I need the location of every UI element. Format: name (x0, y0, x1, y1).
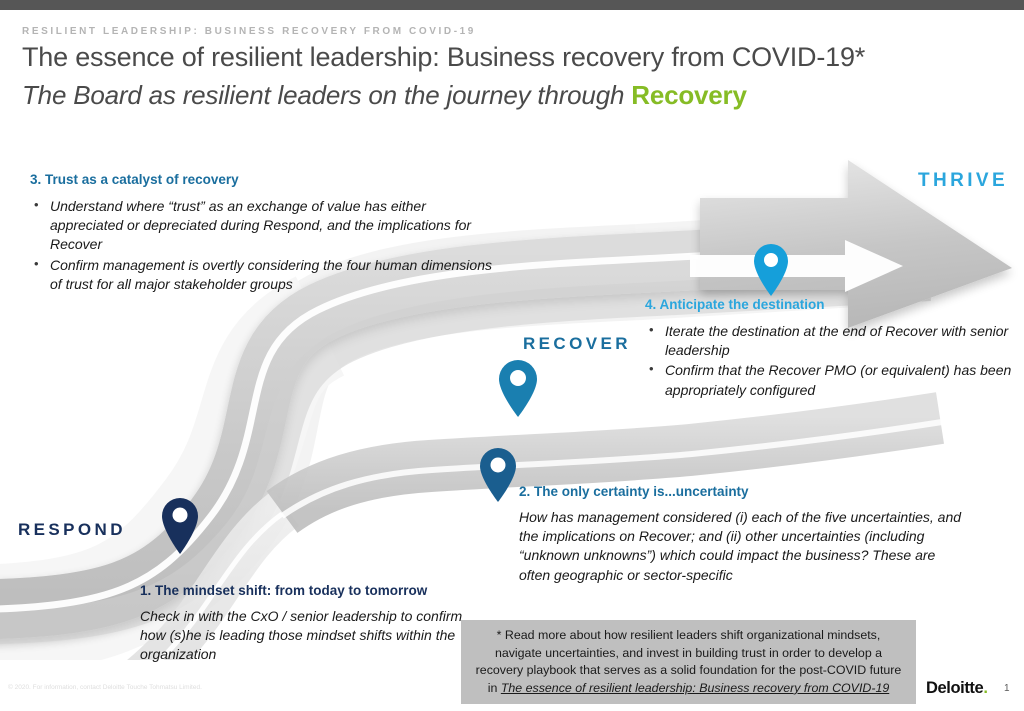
copyright-text: © 2020. For information, contact Deloitt… (8, 684, 202, 691)
list-item: Confirm management is overtly considerin… (30, 256, 500, 294)
callout-trust-heading: 3. Trust as a catalyst of recovery (30, 172, 500, 187)
footnote-link[interactable]: The essence of resilient leadership: Bus… (501, 681, 889, 695)
deloitte-logo: Deloitte. (926, 679, 988, 698)
list-item: Iterate the destination at the end of Re… (645, 322, 1015, 360)
page-number: 1 (1004, 683, 1010, 694)
footnote-line-4-prefix: in (488, 681, 501, 695)
footnote-box: * Read more about how resilient leaders … (461, 620, 916, 704)
footnote-line-1: * Read more about how resilient leaders … (497, 628, 881, 642)
callout-trust: 3. Trust as a catalyst of recovery Under… (30, 172, 500, 295)
callout-mindset: 1. The mindset shift: from today to tomo… (140, 583, 470, 665)
pin-respond-icon (162, 498, 198, 554)
list-item: Understand where “trust” as an exchange … (30, 197, 500, 255)
footnote-line-3: recovery playbook that serves as a solid… (476, 663, 902, 677)
stage-label-recover: RECOVER (523, 334, 631, 354)
pin-destination-icon (754, 244, 788, 296)
callout-destination: 4. Anticipate the destination Iterate th… (645, 297, 1015, 401)
pin-trust-icon (499, 360, 537, 417)
footnote-line-2: navigate uncertainties, and invest in bu… (495, 646, 882, 660)
list-item: Confirm that the Recover PMO (or equival… (645, 361, 1015, 399)
deloitte-wordmark: Deloitte (926, 679, 983, 697)
callout-destination-heading: 4. Anticipate the destination (645, 297, 1015, 312)
page-title: The essence of resilient leadership: Bus… (22, 42, 865, 73)
callout-trust-bullets: Understand where “trust” as an exchange … (30, 197, 500, 294)
subtitle-accent: Recovery (631, 80, 746, 110)
callout-uncertainty-body: How has management considered (i) each o… (519, 508, 969, 585)
callout-destination-bullets: Iterate the destination at the end of Re… (645, 322, 1015, 400)
eyebrow-label: RESILIENT LEADERSHIP: BUSINESS RECOVERY … (22, 26, 476, 37)
top-accent-bar (0, 0, 1024, 10)
slide-canvas: RESILIENT LEADERSHIP: BUSINESS RECOVERY … (0, 0, 1024, 711)
callout-uncertainty: 2. The only certainty is...uncertainty H… (519, 484, 969, 585)
deloitte-logo-dot: . (983, 679, 987, 697)
stage-label-respond: RESPOND (18, 520, 126, 540)
pin-uncertainty-icon (480, 448, 516, 502)
page-subtitle: The Board as resilient leaders on the jo… (22, 80, 747, 111)
callout-mindset-body: Check in with the CxO / senior leadershi… (140, 607, 470, 665)
subtitle-prefix: The Board as resilient leaders on the jo… (22, 80, 631, 110)
stage-label-thrive: THRIVE (918, 170, 1008, 192)
callout-mindset-heading: 1. The mindset shift: from today to tomo… (140, 583, 470, 598)
callout-uncertainty-heading: 2. The only certainty is...uncertainty (519, 484, 969, 499)
